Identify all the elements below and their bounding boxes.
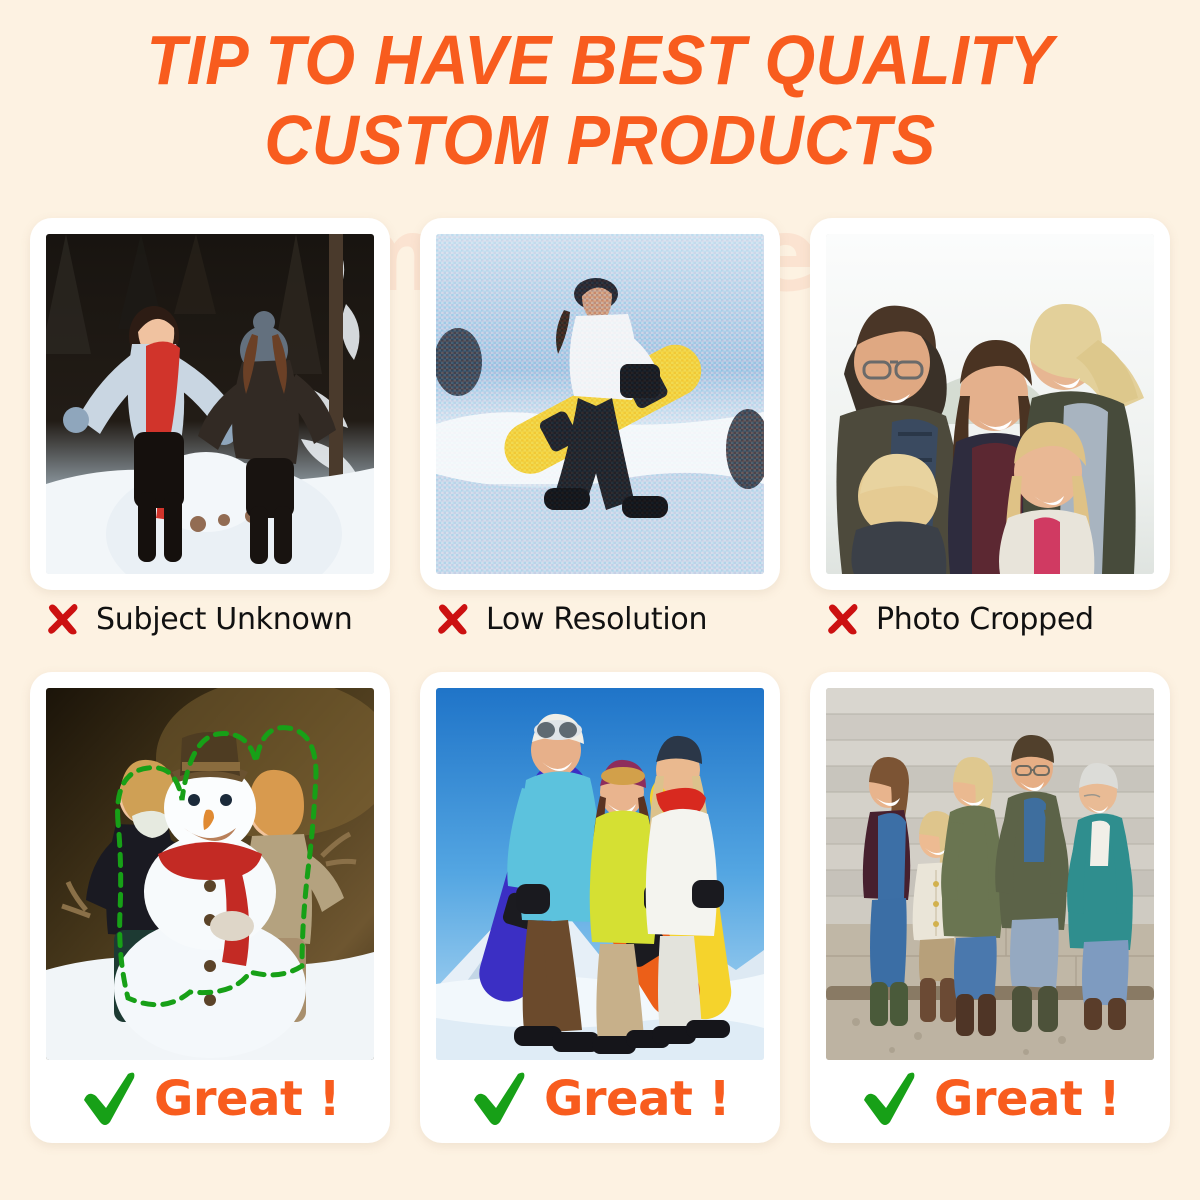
verdict-good-snowman: Great ! <box>46 1060 374 1138</box>
verdict-good-snowboarders: Great ! <box>436 1060 764 1138</box>
photo-good-snowboarders <box>436 688 764 1060</box>
card-good-snowman[interactable]: Great ! <box>30 672 390 1143</box>
photo-low-resolution-art <box>436 234 764 574</box>
photo-low-resolution <box>436 234 764 574</box>
photo-good-snowboarders-art <box>436 688 764 1060</box>
verdict-good-family: Great ! <box>826 1060 1154 1138</box>
verdict-subject-unknown: Subject Unknown <box>30 600 390 638</box>
card-good-snowboarders[interactable]: Great ! <box>420 672 780 1143</box>
photo-photo-cropped-art <box>826 234 1154 574</box>
verdict-label: Subject Unknown <box>96 602 352 637</box>
photo-good-family <box>826 688 1154 1060</box>
bad-examples-row <box>30 218 1170 590</box>
verdict-low-resolution: Low Resolution <box>420 600 780 638</box>
verdict-label: Great ! <box>934 1071 1120 1127</box>
card-subject-unknown[interactable] <box>30 218 390 590</box>
verdict-label: Photo Cropped <box>876 602 1094 637</box>
page-title: TIP TO HAVE BEST QUALITY CUSTOM PRODUCTS <box>42 20 1158 180</box>
photo-photo-cropped <box>826 234 1154 574</box>
card-low-resolution[interactable] <box>420 218 780 590</box>
verdict-label: Low Resolution <box>486 602 707 637</box>
photo-subject-unknown-art <box>46 234 374 574</box>
check-mark-icon <box>470 1072 528 1126</box>
photo-good-family-art <box>826 688 1154 1060</box>
page-title-line-2: CUSTOM PRODUCTS <box>42 100 1158 180</box>
card-good-family[interactable]: Great ! <box>810 672 1170 1143</box>
x-mark-icon <box>434 600 472 638</box>
x-mark-icon <box>44 600 82 638</box>
photo-good-snowman-art <box>46 688 374 1060</box>
verdict-photo-cropped: Photo Cropped <box>810 600 1170 638</box>
infographic-page: macorner TIP TO HAVE BEST QUALITY CUSTOM… <box>0 0 1200 1200</box>
x-mark-icon <box>824 600 862 638</box>
good-examples-row: Great ! <box>30 672 1170 1143</box>
page-title-line-1: TIP TO HAVE BEST QUALITY <box>42 20 1158 100</box>
photo-subject-unknown <box>46 234 374 574</box>
bad-labels-row: Subject Unknown Low Resolution Photo Cro… <box>30 600 1170 638</box>
check-mark-icon <box>860 1072 918 1126</box>
verdict-label: Great ! <box>544 1071 730 1127</box>
photo-good-snowman <box>46 688 374 1060</box>
check-mark-icon <box>80 1072 138 1126</box>
verdict-label: Great ! <box>154 1071 340 1127</box>
card-photo-cropped[interactable] <box>810 218 1170 590</box>
